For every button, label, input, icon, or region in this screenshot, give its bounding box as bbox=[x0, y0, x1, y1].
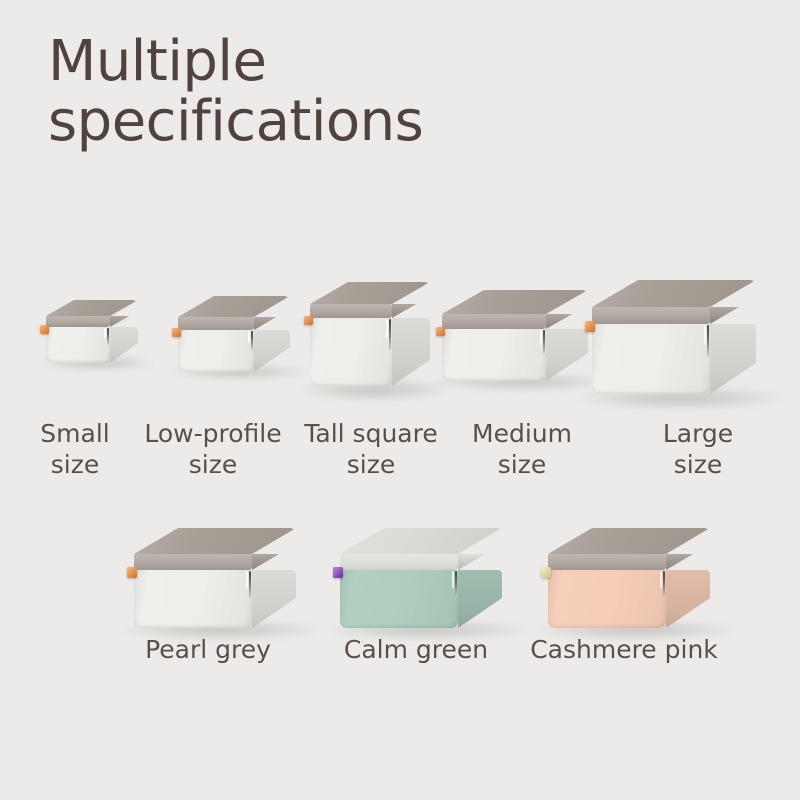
box-lid-front-rim bbox=[310, 304, 392, 318]
page-title: Multiple specifications bbox=[48, 32, 688, 153]
box-lid-front-rim bbox=[134, 554, 252, 570]
size-caption-5: Large size bbox=[628, 418, 768, 481]
box-lid-front-rim bbox=[592, 307, 710, 324]
pull-tab-icon[interactable] bbox=[172, 328, 181, 337]
box-hinge-highlight bbox=[246, 571, 248, 588]
storage-box-color-1[interactable] bbox=[134, 528, 312, 650]
box-body-front-face bbox=[592, 324, 710, 394]
pull-tab-icon[interactable] bbox=[436, 327, 445, 336]
box-lid-front-rim bbox=[340, 554, 458, 570]
pull-tab-icon[interactable] bbox=[127, 567, 137, 577]
box-body-front-face bbox=[340, 570, 458, 628]
box-hinge-seam bbox=[455, 571, 458, 598]
box-3d-geometry bbox=[134, 528, 312, 650]
box-hinge-highlight bbox=[540, 330, 542, 345]
size-caption-1: Small size bbox=[20, 418, 130, 481]
box-body-side-face bbox=[392, 318, 430, 386]
box-lid-front-rim bbox=[442, 314, 546, 329]
box-hinge-seam bbox=[389, 319, 392, 350]
storage-box-size-2[interactable] bbox=[178, 296, 306, 394]
product-showcase-canvas: Multiple specifications Small sizeLow-pr… bbox=[0, 0, 800, 800]
pull-tab-icon[interactable] bbox=[40, 325, 49, 334]
box-hinge-seam bbox=[707, 325, 710, 357]
box-lid-side-rim bbox=[392, 304, 430, 318]
pull-tab-icon[interactable] bbox=[304, 316, 313, 325]
box-lid-side-rim bbox=[254, 317, 290, 330]
box-hinge-highlight bbox=[104, 328, 106, 338]
storage-box-size-5[interactable] bbox=[592, 280, 772, 416]
box-lid-side-rim bbox=[458, 554, 502, 570]
box-body-side-face bbox=[252, 570, 296, 628]
box-hinge-seam bbox=[249, 571, 252, 598]
box-hinge-seam bbox=[663, 571, 666, 598]
pull-tab-icon[interactable] bbox=[585, 321, 595, 331]
box-body-side-face bbox=[666, 570, 710, 628]
box-lid-side-rim bbox=[546, 314, 588, 329]
box-body-front-face bbox=[442, 329, 546, 381]
box-lid-front-rim bbox=[46, 316, 110, 327]
box-body-front-face bbox=[134, 570, 252, 628]
box-3d-geometry bbox=[178, 296, 306, 394]
box-body-front-face bbox=[310, 318, 392, 386]
box-body-front-face bbox=[548, 570, 666, 628]
box-body-side-face bbox=[710, 324, 756, 394]
size-caption-3: Tall square size bbox=[296, 418, 446, 481]
size-caption-4: Medium size bbox=[452, 418, 592, 481]
box-3d-geometry bbox=[442, 290, 604, 403]
box-body-side-face bbox=[110, 327, 138, 363]
box-hinge-seam bbox=[251, 331, 254, 350]
box-hinge-seam bbox=[107, 328, 110, 345]
box-hinge-highlight bbox=[660, 571, 662, 588]
pull-tab-icon[interactable] bbox=[333, 567, 343, 577]
box-3d-geometry bbox=[592, 280, 772, 416]
box-3d-geometry bbox=[46, 300, 154, 385]
box-lid-side-rim bbox=[110, 316, 138, 327]
box-body-front-face bbox=[178, 330, 254, 372]
box-lid-side-rim bbox=[252, 554, 296, 570]
color-caption-1: Pearl grey bbox=[118, 634, 298, 665]
box-lid-front-rim bbox=[548, 554, 666, 570]
box-body-side-face bbox=[254, 330, 290, 372]
box-body-side-face bbox=[546, 329, 588, 381]
box-lid-side-rim bbox=[710, 307, 756, 324]
box-body-front-face bbox=[46, 327, 110, 363]
color-caption-2: Calm green bbox=[326, 634, 506, 665]
box-3d-geometry bbox=[340, 528, 518, 650]
size-caption-2: Low-profile size bbox=[138, 418, 288, 481]
storage-box-color-3[interactable] bbox=[548, 528, 726, 650]
storage-box-size-4[interactable] bbox=[442, 290, 604, 403]
storage-box-color-2[interactable] bbox=[340, 528, 518, 650]
box-hinge-highlight bbox=[704, 325, 706, 345]
storage-box-size-1[interactable] bbox=[46, 300, 154, 385]
storage-box-size-3[interactable] bbox=[310, 282, 446, 408]
pull-tab-icon[interactable] bbox=[541, 567, 551, 577]
color-caption-3: Cashmere pink bbox=[514, 634, 734, 665]
box-body-side-face bbox=[458, 570, 502, 628]
box-lid-side-rim bbox=[666, 554, 710, 570]
box-hinge-highlight bbox=[452, 571, 454, 588]
box-lid-front-rim bbox=[178, 317, 254, 330]
box-hinge-seam bbox=[543, 330, 546, 354]
box-hinge-highlight bbox=[248, 331, 250, 343]
box-3d-geometry bbox=[310, 282, 446, 408]
box-3d-geometry bbox=[548, 528, 726, 650]
box-hinge-highlight bbox=[386, 319, 388, 338]
